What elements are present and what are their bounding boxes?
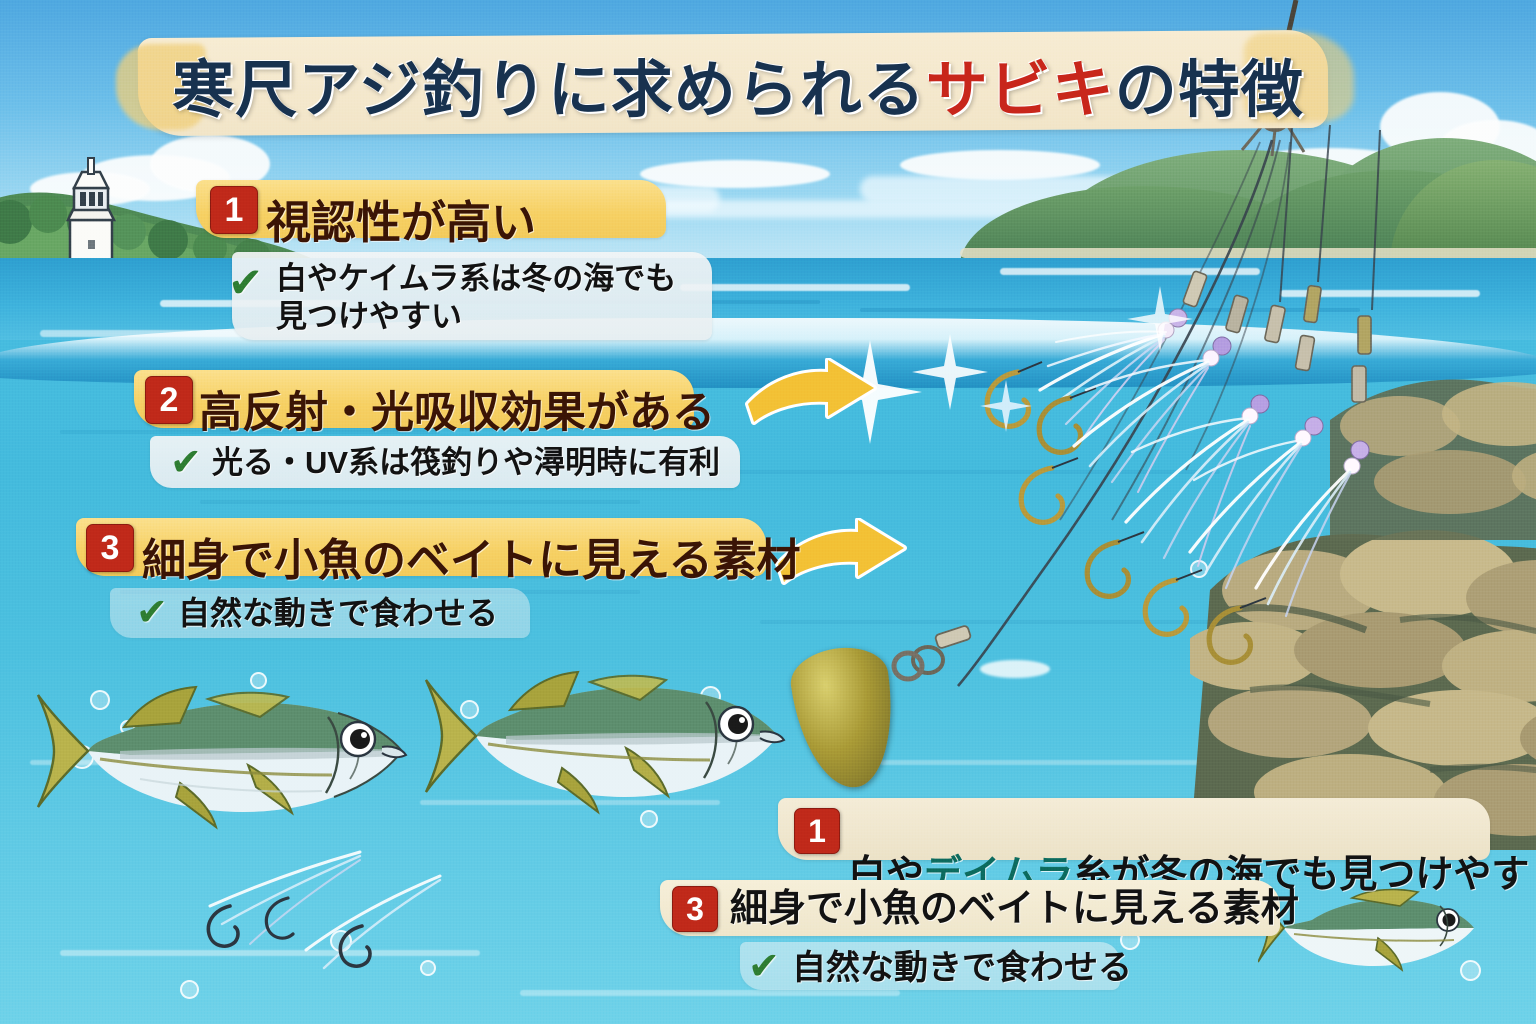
feature-1-detail: 白やケイムラ系は冬の海でも 見つけやすい bbox=[276, 260, 676, 336]
title-part-2: サビキ bbox=[926, 39, 1115, 129]
wave-crest bbox=[680, 284, 910, 291]
feature-2-badge: 2 bbox=[145, 376, 193, 424]
feature-3-detail: 自然な動きで食わせる bbox=[178, 594, 498, 633]
feature-1-badge: 1 bbox=[210, 186, 258, 234]
feature-2-check-icon: ✔ bbox=[170, 444, 202, 482]
feature-3-badge: 3 bbox=[86, 524, 134, 572]
title-part-1: 寒尺アジ釣りに求められる bbox=[172, 39, 926, 129]
water-shimmer bbox=[200, 500, 640, 504]
fish-aji-large bbox=[410, 640, 810, 870]
cloud bbox=[640, 160, 830, 188]
callout-3-check-icon: ✔ bbox=[748, 948, 780, 986]
infographic-canvas: 寒尺アジ釣りに求められるサビキの特徴 1 視認性が高い ✔ 白やケイムラ系は冬の… bbox=[0, 0, 1536, 1024]
sparkle-icon bbox=[1120, 280, 1240, 370]
callout-1-badge: 1 bbox=[794, 808, 840, 854]
callout-3-heading: 細身で小魚のベイトに見える素材 bbox=[730, 886, 1299, 932]
feature-2-heading: 高反射・光吸収効果がある bbox=[199, 378, 715, 440]
feature-2-detail: 光る・UV系は筏釣りや潯明時に有利 bbox=[212, 444, 720, 482]
sabiki-lure-loose bbox=[110, 840, 550, 1000]
page-title: 寒尺アジ釣りに求められるサビキの特徴 bbox=[178, 44, 1298, 124]
feature-1-check-icon: ✔ bbox=[228, 262, 263, 304]
callout-3-detail: 自然な動きで食わせる bbox=[792, 948, 1132, 989]
water-shimmer bbox=[520, 990, 900, 996]
feature-3-check-icon: ✔ bbox=[136, 594, 168, 632]
callout-3-badge: 3 bbox=[672, 886, 718, 932]
title-part-3: の特徴 bbox=[1115, 39, 1304, 129]
arrow-right-icon bbox=[742, 358, 882, 436]
feature-1-heading: 視認性が高い bbox=[266, 186, 536, 251]
feature-3-heading: 細身で小魚のベイトに見える素材 bbox=[142, 524, 801, 588]
sinker-eye-icon bbox=[884, 640, 944, 690]
